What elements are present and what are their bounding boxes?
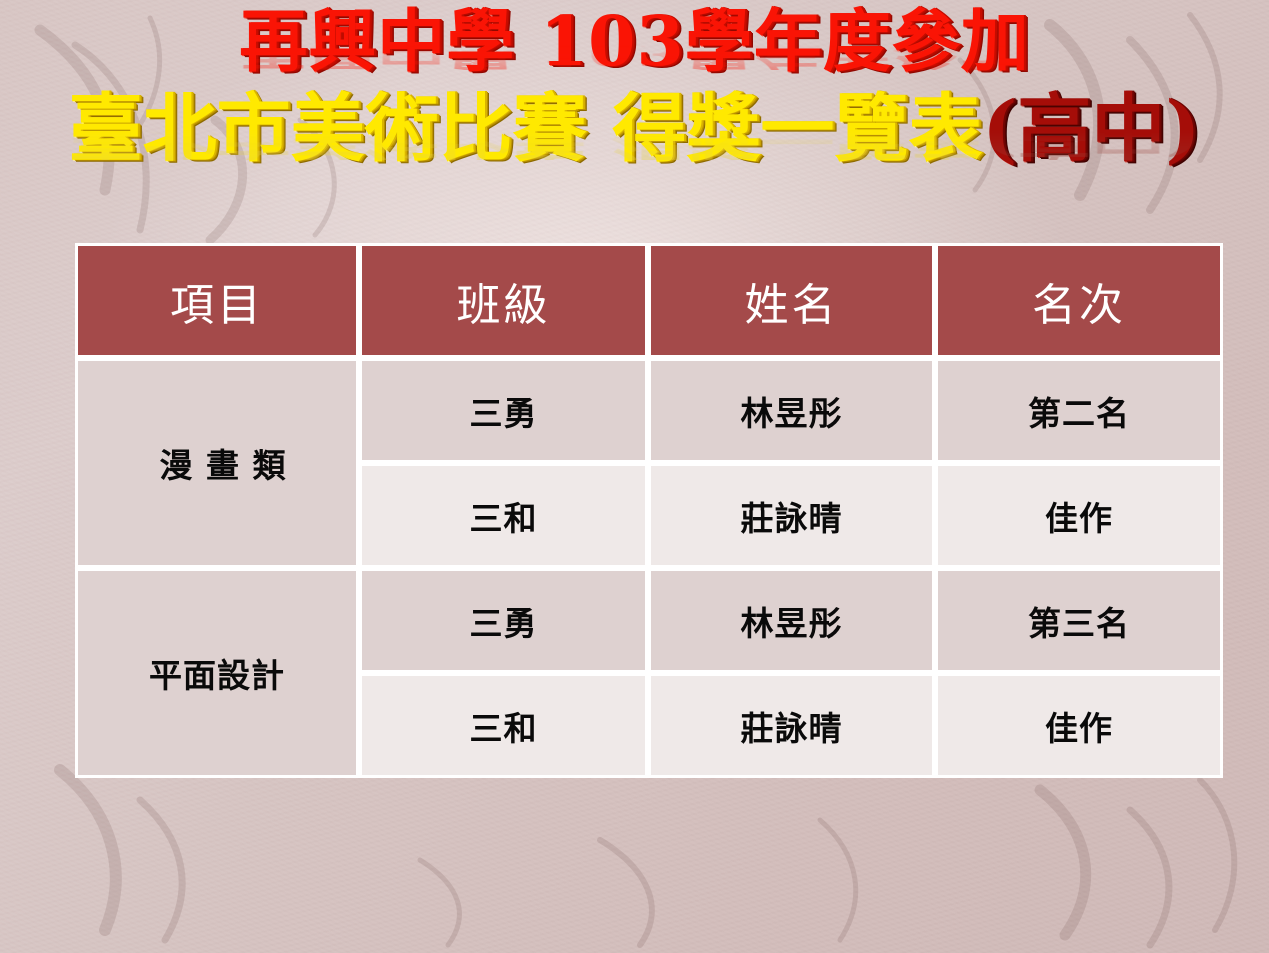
- title-line-secondary-reflection: 臺北市美術比賽 得獎一覽表(高中): [0, 119, 1269, 160]
- rank-cell: 佳作: [935, 463, 1223, 568]
- award-table: 項目 班級 姓名 名次 漫 畫 類 三勇 林昱彤 第二名 三和 莊詠晴 佳作: [75, 243, 1223, 778]
- award-table-head: 項目 班級 姓名 名次: [75, 243, 1223, 358]
- category-cell-comic: 漫 畫 類: [75, 358, 359, 568]
- table-row: 平面設計 三勇 林昱彤 第三名: [75, 568, 1223, 673]
- rank-cell: 第二名: [935, 358, 1223, 463]
- title-line-primary-text: 再興中學 103學年度參加: [0, 8, 1269, 76]
- award-table-body: 漫 畫 類 三勇 林昱彤 第二名 三和 莊詠晴 佳作 平面設計 三勇 林昱彤 第…: [75, 358, 1223, 778]
- name-cell: 莊詠晴: [648, 463, 935, 568]
- class-cell: 三勇: [359, 568, 648, 673]
- award-table-container: 項目 班級 姓名 名次 漫 畫 類 三勇 林昱彤 第二名 三和 莊詠晴 佳作: [75, 243, 1223, 776]
- table-header-row: 項目 班級 姓名 名次: [75, 243, 1223, 358]
- name-cell: 林昱彤: [648, 358, 935, 463]
- title-line-secondary: 臺北市美術比賽 得獎一覽表(高中) 臺北市美術比賽 得獎一覽表(高中): [0, 92, 1269, 184]
- rank-cell: 佳作: [935, 673, 1223, 778]
- column-header-rank: 名次: [935, 243, 1223, 358]
- column-header-name: 姓名: [648, 243, 935, 358]
- table-row: 漫 畫 類 三勇 林昱彤 第二名: [75, 358, 1223, 463]
- class-cell: 三和: [359, 463, 648, 568]
- name-cell: 莊詠晴: [648, 673, 935, 778]
- class-cell: 三和: [359, 673, 648, 778]
- slide-title: 再興中學 103學年度參加 再興中學 103學年度參加 臺北市美術比賽 得獎一覽…: [0, 8, 1269, 184]
- category-cell-graphic-design: 平面設計: [75, 568, 359, 778]
- column-header-item: 項目: [75, 243, 359, 358]
- title-line-secondary-text: 臺北市美術比賽 得獎一覽表(高中): [0, 92, 1269, 166]
- column-header-class: 班級: [359, 243, 648, 358]
- name-cell: 林昱彤: [648, 568, 935, 673]
- rank-cell: 第三名: [935, 568, 1223, 673]
- title-secondary-suffix-reflection: (高中): [982, 116, 1200, 163]
- class-cell: 三勇: [359, 358, 648, 463]
- title-line-primary-reflection: 再興中學 103學年度參加: [0, 35, 1269, 70]
- title-secondary-main-reflection: 臺北市美術比賽 得獎一覽表: [69, 116, 983, 163]
- title-secondary-main-text: 臺北市美術比賽 得獎一覽表: [69, 86, 983, 172]
- title-line-primary: 再興中學 103學年度參加 再興中學 103學年度參加: [0, 8, 1269, 88]
- slide-canvas: 再興中學 103學年度參加 再興中學 103學年度參加 臺北市美術比賽 得獎一覽…: [0, 0, 1269, 953]
- title-secondary-suffix-text: (高中): [982, 86, 1200, 172]
